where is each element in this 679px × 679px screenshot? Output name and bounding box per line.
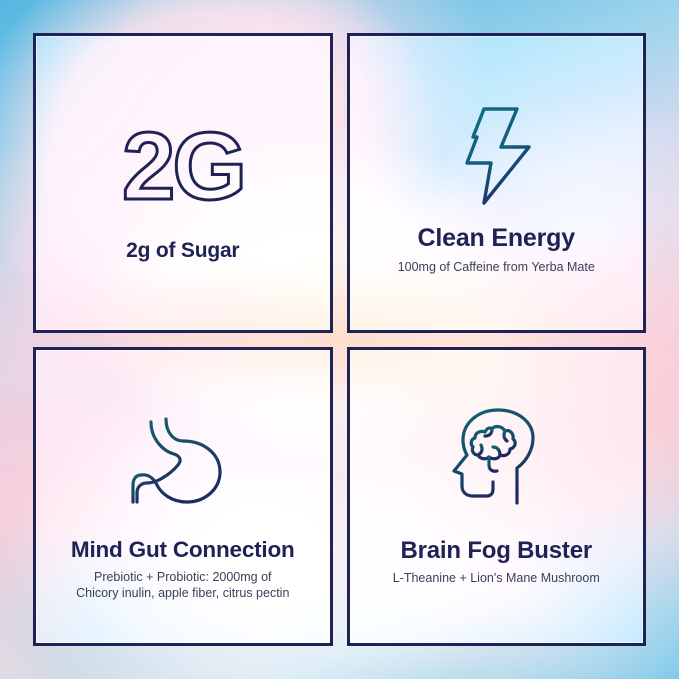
panel-subtitle-line1: Prebiotic + Probiotic: 2000mg of	[94, 570, 272, 584]
panel-title: Brain Fog Buster	[401, 538, 592, 564]
panel-title: Mind Gut Connection	[71, 538, 295, 563]
head-brain-icon	[441, 408, 551, 510]
panel-subtitle-line2: Chicory inulin, apple fiber, citrus pect…	[76, 586, 289, 600]
2g-icon-label: 2G	[122, 113, 244, 220]
benefit-panel-mind-gut[interactable]: Mind Gut Connection Prebiotic + Probioti…	[33, 347, 333, 647]
stomach-icon	[125, 410, 240, 510]
panel-title: 2g of Sugar	[126, 239, 239, 262]
benefits-infographic: 2G 2g of Sugar Clean Energy 100mg of Caf…	[0, 0, 679, 679]
panel-subtitle: 100mg of Caffeine from Yerba Mate	[398, 260, 595, 276]
benefit-panel-clean-energy[interactable]: Clean Energy 100mg of Caffeine from Yerb…	[347, 33, 647, 333]
icon-slot	[36, 350, 330, 510]
panel-subtitle: L-Theanine + Lion's Mane Mushroom	[393, 571, 600, 587]
panel-subtitle: Prebiotic + Probiotic: 2000mg of Chicory…	[76, 570, 289, 601]
icon-slot: 2G	[36, 36, 330, 221]
2g-outline-text-icon: 2G	[118, 111, 248, 221]
lightning-bolt-icon	[451, 101, 541, 211]
icon-slot	[350, 36, 644, 211]
panel-title: Clean Energy	[418, 225, 575, 253]
icon-slot	[350, 350, 644, 510]
benefit-panel-brain-fog[interactable]: Brain Fog Buster L-Theanine + Lion's Man…	[347, 347, 647, 647]
benefit-panel-sugar[interactable]: 2G 2g of Sugar	[33, 33, 333, 333]
benefits-grid: 2G 2g of Sugar Clean Energy 100mg of Caf…	[33, 33, 646, 646]
